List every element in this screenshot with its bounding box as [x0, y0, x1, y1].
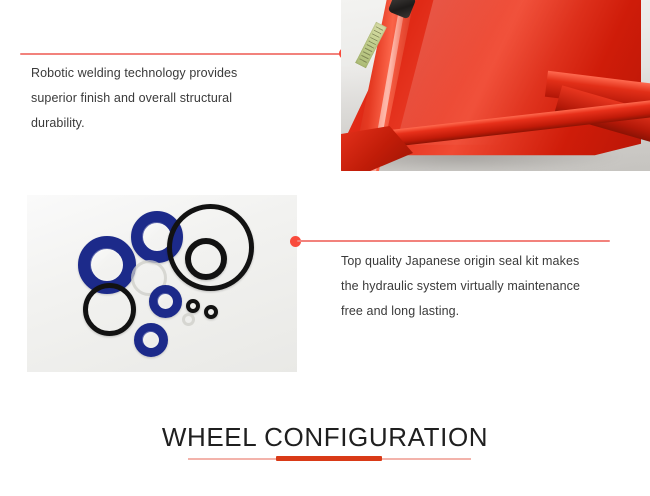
- connector-line-welding: [20, 53, 342, 55]
- black-oring-small-1: [186, 299, 200, 313]
- page-title: WHEEL CONFIGURATION: [0, 421, 650, 453]
- black-oring-lower-left: [83, 283, 136, 336]
- feature-text-welding: Robotic welding technology provides supe…: [31, 61, 321, 136]
- black-oring-inner: [185, 238, 227, 280]
- blue-seal-bottom: [134, 323, 168, 357]
- heading-underline: [188, 456, 471, 461]
- blue-seal-medium: [149, 285, 182, 318]
- clear-oring-small: [182, 313, 195, 326]
- feature-text-sealkit: Top quality Japanese origin seal kit mak…: [341, 249, 641, 324]
- black-oring-small-2: [204, 305, 218, 319]
- heading-underline-accent: [276, 456, 382, 461]
- red-welded-frame-photo: [341, 0, 650, 171]
- connector-line-sealkit: [297, 240, 610, 242]
- hydraulic-seal-kit-photo: [27, 195, 297, 372]
